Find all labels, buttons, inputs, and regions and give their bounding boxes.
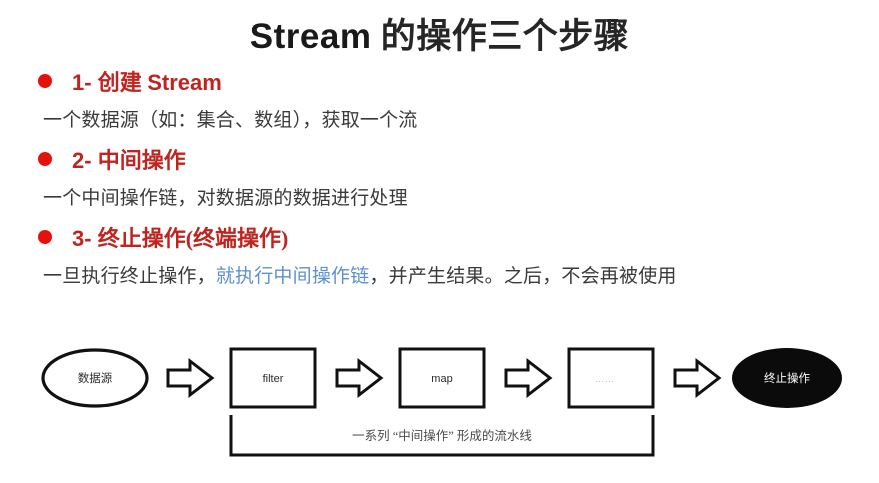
sections-list: 1- 创建 Stream 一个数据源（如：集合、数组），获取一个流 2- 中间操… [38, 66, 858, 294]
section-3-number: 3- [72, 226, 98, 251]
section-1-body: 一个数据源（如：集合、数组），获取一个流 [43, 105, 858, 132]
section-3-body-highlight: 就执行中间操作链 [216, 266, 370, 287]
diagram-node-map: map [400, 349, 484, 407]
section-1-heading-row: 1- 创建 Stream [38, 66, 858, 96]
diagram-node-source: 数据源 [43, 350, 147, 406]
section-1-heading-latin: Stream [147, 70, 222, 95]
section-2-heading: 2- 中间操作 [72, 143, 186, 175]
section-2-body: 一个中间操作链，对数据源的数据进行处理 [43, 183, 858, 210]
terminal-node-label: 终止操作 [764, 371, 810, 385]
section-3-body-pre: 一旦执行终止操作， [43, 266, 216, 287]
section-2-heading-row: 2- 中间操作 [38, 144, 858, 174]
section-2-number: 2- [72, 148, 98, 173]
filter-node-label: filter [263, 373, 284, 385]
section-1-heading-cn: 创建 [98, 70, 148, 95]
section-3-body-post: ，并产生结果。之后，不会再被使用 [369, 266, 676, 287]
section-1-number: 1- [72, 70, 98, 95]
section-3-heading-row: 3- 终止操作(终端操作) [38, 222, 858, 252]
pipeline-bracket: 一系列 “中间操作” 形成的流水线 [231, 415, 653, 455]
map-node-label: map [431, 373, 452, 385]
more-node-label: …… [595, 374, 615, 384]
page-title: Stream 的操作三个步骤 [0, 8, 879, 59]
section-2-heading-cn: 中间操作 [98, 148, 186, 173]
bullet-dot-icon [38, 230, 52, 244]
page-title-cn: 的操作三个步骤 [371, 17, 629, 56]
arrow-right-icon [675, 361, 719, 395]
arrow-right-icon [506, 361, 550, 395]
diagram-node-filter: filter [231, 349, 315, 407]
diagram-node-terminal: 终止操作 [732, 348, 842, 408]
bullet-dot-icon [38, 74, 52, 88]
section-3-body: 一旦执行终止操作，就执行中间操作链，并产生结果。之后，不会再被使用 [43, 261, 858, 288]
section-1-heading: 1- 创建 Stream [72, 65, 222, 97]
source-node-label: 数据源 [78, 371, 113, 385]
diagram-node-more: …… [569, 349, 653, 407]
section-3-heading: 3- 终止操作(终端操作) [72, 221, 288, 253]
bracket-caption: 一系列 “中间操作” 形成的流水线 [352, 428, 532, 443]
section-intermediate-operation: 2- 中间操作 一个中间操作链，对数据源的数据进行处理 [38, 144, 858, 210]
arrow-right-icon [168, 361, 212, 395]
section-3-heading-cn: 终止操作(终端操作) [98, 226, 289, 251]
arrow-right-icon [337, 361, 381, 395]
section-create-stream: 1- 创建 Stream 一个数据源（如：集合、数组），获取一个流 [38, 66, 858, 132]
bullet-dot-icon [38, 152, 52, 166]
stream-pipeline-diagram: 数据源 filter map …… 终止操作 [0, 325, 879, 483]
page-title-latin: Stream [250, 17, 372, 56]
section-terminal-operation: 3- 终止操作(终端操作) 一旦执行终止操作，就执行中间操作链，并产生结果。之后… [38, 222, 858, 288]
